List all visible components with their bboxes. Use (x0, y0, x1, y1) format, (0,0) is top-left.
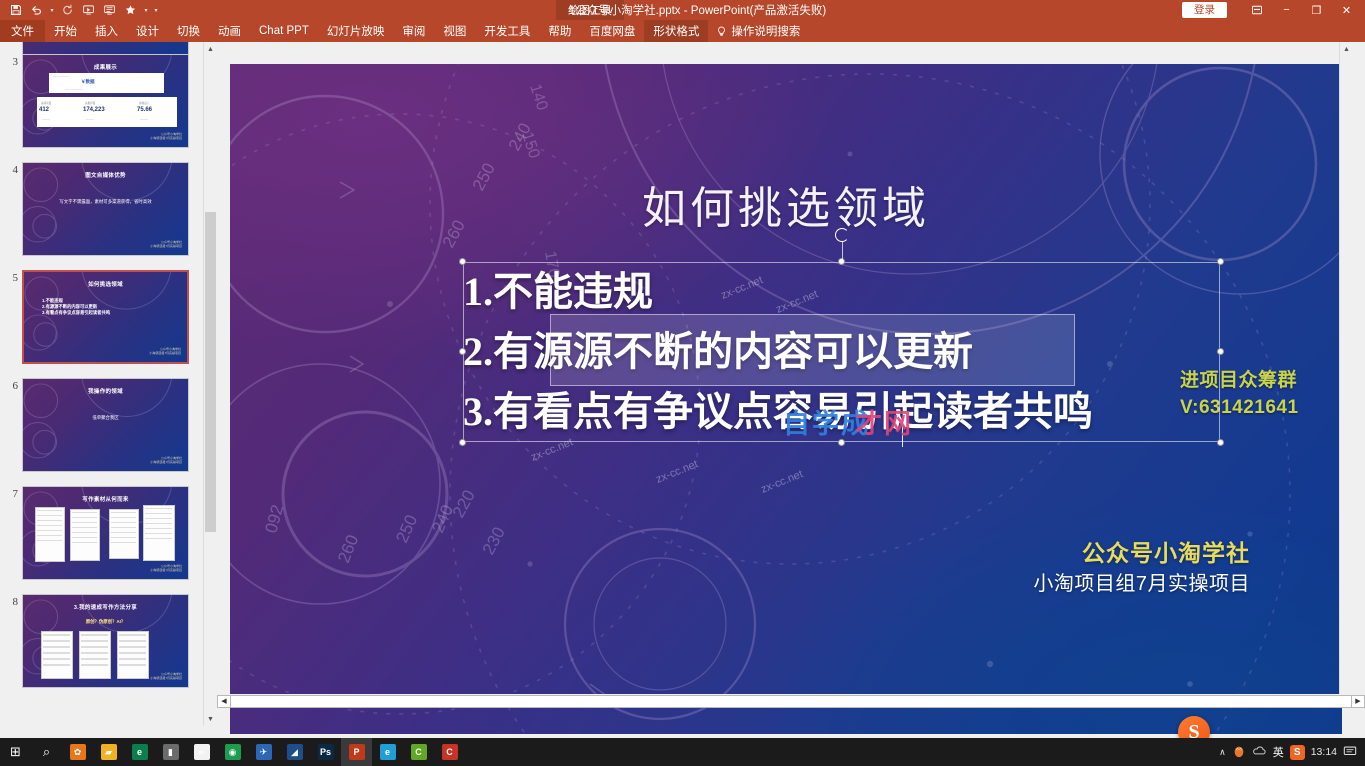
thumbnail-preview[interactable]: 写作素材从何而来公众号小淘学社小淘项目组7月实操项目 (22, 486, 189, 580)
thumbnail-image-line (72, 527, 97, 528)
thumbnail-number: 8 (0, 594, 22, 688)
thumbnail-footer: 公众号小淘学社小淘项目组7月实操项目 (149, 347, 181, 355)
app-icon-blue[interactable]: ◢ (279, 738, 310, 766)
hscroll-track[interactable] (231, 695, 1351, 708)
thumbnail-stat-label: 总收益元 (139, 101, 149, 105)
list-item[interactable]: 7写作素材从何而来公众号小淘学社小淘项目组7月实操项目 (0, 486, 203, 580)
thumbnail-image-line (119, 634, 146, 636)
thumbnail-image-line (43, 658, 70, 660)
thumbnail-image-line (111, 517, 136, 518)
thumbnail-image-line (119, 664, 146, 666)
thumbnail-image-line (37, 540, 62, 541)
thumbnail-stat-value: 75.66 (137, 107, 152, 113)
canvas-vertical-scrollbar[interactable]: ▲ ▼ (1339, 42, 1352, 708)
thumbnail-image-line (72, 517, 97, 518)
resize-handle-w[interactable] (459, 348, 466, 355)
ribbon-tab-4[interactable]: 切换 (168, 20, 209, 42)
app-icon-white-glyph: ∞ (194, 744, 210, 760)
favorites-dropdown-icon[interactable]: ▾ (142, 7, 150, 14)
thumbnail-image-line (81, 652, 108, 654)
undo-icon[interactable] (27, 1, 46, 19)
redo-icon[interactable] (58, 1, 77, 19)
app-icon-teal[interactable]: e (372, 738, 403, 766)
svg-text:250: 250 (392, 512, 421, 546)
powerpoint-icon[interactable]: P (341, 738, 372, 766)
svg-text:150: 150 (518, 130, 542, 161)
thumbnail-image-line (145, 538, 172, 539)
thumbnail-stat-label: 总阅读量 (41, 101, 51, 105)
lightbulb-icon (716, 26, 727, 37)
thumbnail-preview[interactable]: 如何挑选领域1.不能违规2.有源源不断的内容可以更新3.有看点有争议点容易引起读… (22, 270, 189, 364)
thumbnail-image-line (37, 515, 62, 516)
thumbnail-footer: 公众号小淘学社小淘项目组7月实操项目 (150, 564, 182, 572)
cloud-icon[interactable] (1252, 745, 1267, 760)
ribbon-tab-13[interactable]: 形状格式 (644, 20, 708, 42)
resize-handle-nw[interactable] (459, 258, 466, 265)
resize-handle-e[interactable] (1217, 348, 1224, 355)
watermark-site-tag: zx-cc.net (654, 458, 699, 486)
thumbnail-image-line (37, 520, 62, 521)
thumbnail-image-line (81, 658, 108, 660)
ribbon-tab-8[interactable]: 审阅 (393, 20, 434, 42)
thumbnail-scrollbar[interactable]: ▲ ▼ (203, 42, 216, 726)
thumbnail-title: 如何挑选领域 (24, 280, 187, 288)
photoshop-icon[interactable]: Ps (310, 738, 341, 766)
app-icon-red-glyph: C (442, 744, 458, 760)
windows-taskbar: ⊞⌕✿▰e▮∞◉✈◢PsPeCC ∧ 英 S 13:14 (0, 738, 1365, 766)
thumbnail-title: 3.我的速成写作方法分享 (23, 603, 188, 611)
powerpoint-icon-glyph: P (349, 744, 365, 760)
selection-frame[interactable] (463, 262, 1220, 442)
thumbnail-stat-unit: ——— (140, 118, 148, 121)
thumbnail-image-line (119, 646, 146, 648)
thumbnail-stat-value: 174,223 (83, 107, 105, 113)
thumbnail-image-line (145, 513, 172, 514)
svg-text:220: 220 (449, 487, 479, 521)
notification-icon[interactable] (1343, 745, 1357, 760)
usb-device-icon-glyph: ▮ (163, 744, 179, 760)
ribbon-tab-3[interactable]: 设计 (127, 20, 168, 42)
thumbnail-title: 图文自媒体优势 (23, 171, 188, 179)
svg-text:092: 092 (262, 503, 288, 535)
thumbnail-subtitle: 写文字不需露面，素材可多渠道获得，省时高效 (23, 199, 188, 205)
thumbnail-body: 1.不能违规2.有源源不断的内容可以更新3.有看点有争议点容易引起读者共鸣 (42, 298, 110, 317)
scroll-up-icon[interactable]: ▲ (204, 42, 217, 56)
taskbar-app-orange[interactable]: ✿ (62, 738, 93, 766)
rotation-stem (842, 242, 843, 262)
app-icon-blue-glyph: ◢ (287, 744, 303, 760)
thumbnail-image-line (37, 530, 62, 531)
ribbon-tab-1[interactable]: 开始 (45, 20, 86, 42)
current-slide[interactable]: 240 250 260 220 230 092 260 250 240 150 … (230, 64, 1342, 734)
ime-language-indicator[interactable]: 英 (1273, 744, 1284, 760)
svg-text:140: 140 (526, 82, 550, 113)
ribbon-tab-7[interactable]: 幻灯片放映 (318, 20, 394, 42)
window-title: 1公众号小淘学社.pptx - PowerPoint(产品激活失败) (0, 0, 1365, 20)
resize-handle-s[interactable] (838, 439, 845, 446)
thumbnail-number: 5 (0, 270, 22, 364)
search-icon[interactable]: ⌕ (31, 738, 62, 766)
thumbnail-image-line (119, 640, 146, 642)
svg-text:260: 260 (334, 532, 362, 565)
horizontal-scrollbar[interactable]: ◀ ▶ (217, 694, 1365, 708)
app-icon-white[interactable]: ∞ (186, 738, 217, 766)
thumbnail-stat-unit: ——— (42, 118, 50, 121)
thumbnail-number: 6 (0, 378, 22, 472)
ribbon-tab-6[interactable]: Chat PPT (250, 20, 318, 42)
rotate-handle[interactable] (835, 228, 849, 242)
list-item[interactable]: 83.我的速成写作方法分享原创？伪原创？AI？公众号小淘学社小淘项目组7月实操项… (0, 594, 203, 688)
thumbnail-stat-label: 总推荐量 (85, 101, 95, 105)
file-explorer-icon[interactable]: ▰ (93, 738, 124, 766)
maximize-button[interactable]: ❐ (1302, 0, 1331, 20)
thumbnail-subtitle: 原创？伪原创？AI？ (23, 619, 188, 625)
canvas-scroll-up-icon[interactable]: ▲ (1340, 42, 1353, 56)
thumbnail-image-line (43, 634, 70, 636)
thumbnail-preview[interactable]: 3.我的速成写作方法分享原创？伪原创？AI？公众号小淘学社小淘项目组7月实操项目 (22, 594, 189, 688)
thumbnail-image-line (111, 542, 136, 543)
thumbnail-image-line (119, 658, 146, 660)
thumbnail-image-line (111, 532, 136, 533)
thumbnail-footer: 公众号小淘学社小淘项目组7月实操项目 (150, 672, 182, 680)
thumbnail-card-label: —————— (53, 75, 69, 78)
thumbnail-image-line (81, 646, 108, 648)
thumbnail-image-line (111, 522, 136, 523)
thumbnail-footer: 公众号小淘学社小淘项目组7月实操项目 (150, 132, 182, 140)
ribbon-tab-11[interactable]: 帮助 (539, 20, 580, 42)
app-icon-red[interactable]: C (434, 738, 465, 766)
sogou-tray-icon[interactable]: S (1290, 745, 1305, 760)
customize-quick-access-icon[interactable]: ▾ (152, 7, 160, 14)
slide-title[interactable]: 如何挑选领域 (230, 172, 1342, 236)
list-item[interactable]: 6我操作的领域低单聚合我区公众号小淘学社小淘项目组7月实操项目 (0, 378, 203, 472)
thumbnail-card (37, 97, 177, 127)
thumbnail-image-line (43, 640, 70, 642)
thumbnail-image-line (72, 512, 97, 513)
start-button-glyph: ⊞ (10, 744, 21, 760)
thumbnail-image-line (81, 634, 108, 636)
ribbon-tab-12[interactable]: 百度网盘 (580, 20, 644, 42)
thumbnail-image-line (43, 646, 70, 648)
ribbon-tab-9[interactable]: 视图 (434, 20, 475, 42)
thumbnail-image-line (72, 542, 97, 543)
chrome-browser-icon-glyph: ◉ (225, 744, 241, 760)
thumbnail-image-line (145, 528, 172, 529)
photoshop-icon-glyph: Ps (318, 744, 334, 760)
workspace: 3成果展示——————￥数据—— —— ——总阅读量412———总推荐量174,… (0, 42, 1365, 726)
start-button[interactable]: ⊞ (0, 738, 31, 766)
resize-handle-ne[interactable] (1217, 258, 1224, 265)
show-hidden-icons-button[interactable]: ∧ (1219, 747, 1226, 758)
sign-in-button[interactable]: 登录 (1182, 2, 1227, 18)
undo-dropdown-icon[interactable]: ▾ (48, 7, 56, 14)
tell-me-label: 操作说明搜索 (731, 23, 800, 39)
edge-browser-icon-glyph: e (132, 744, 148, 760)
thumbnail-image-line (81, 664, 108, 666)
list-item[interactable]: 5如何挑选领域1.不能违规2.有源源不断的内容可以更新3.有看点有争议点容易引起… (0, 270, 203, 364)
foxmail-icon-glyph: ✈ (256, 744, 272, 760)
thumbnail-image-line (72, 532, 97, 533)
favorites-icon[interactable] (121, 1, 140, 19)
hscroll-right-icon[interactable]: ▶ (1351, 695, 1365, 708)
thumbnail-title: 我操作的领域 (23, 387, 188, 395)
app-icon-green-glyph: C (411, 744, 427, 760)
thumbnail-footer: 公众号小淘学社小淘项目组7月实操项目 (150, 240, 182, 248)
scrollbar-thumb[interactable] (205, 212, 216, 532)
quick-access-toolbar: ▾ ▾ ▾ (0, 1, 160, 19)
taskbar-clock[interactable]: 13:14 (1311, 746, 1337, 758)
scroll-down-icon[interactable]: ▼ (204, 712, 217, 726)
ribbon-display-options-icon[interactable] (1242, 0, 1271, 20)
thumbnail-number: 3 (0, 54, 22, 148)
slide-thumbnail-pane[interactable]: 3成果展示——————￥数据—— —— ——总阅读量412———总推荐量174,… (0, 42, 203, 726)
svg-text:230: 230 (479, 524, 509, 558)
thumbnail-image (79, 631, 111, 679)
search-icon-glyph: ⌕ (43, 744, 50, 760)
qq-penguin-icon[interactable] (1232, 744, 1246, 761)
thumbnail-image (41, 631, 73, 679)
thumbnail-image-line (145, 508, 172, 509)
thumbnail-image-line (43, 664, 70, 666)
ribbon-tab-10[interactable]: 开发工具 (475, 20, 539, 42)
thumbnail-image-line (81, 640, 108, 642)
thumbnail-image-line (37, 525, 62, 526)
thumbnail-stat-unit: ——— (86, 118, 94, 121)
thumbnail-number: 4 (0, 162, 22, 256)
tell-me-search[interactable]: 操作说明搜索 (708, 23, 808, 39)
thumbnail-image-line (72, 537, 97, 538)
edge-browser-icon[interactable]: e (124, 738, 155, 766)
save-icon[interactable] (6, 1, 25, 19)
svg-text:240: 240 (505, 120, 535, 154)
ribbon-tab-2[interactable]: 插入 (86, 20, 127, 42)
thumbnail-image-line (111, 512, 136, 513)
ribbon-tab-bar: 文件开始插入设计切换动画Chat PPT幻灯片放映审阅视图开发工具帮助百度网盘形… (0, 20, 1365, 42)
usb-device-icon[interactable]: ▮ (155, 738, 186, 766)
title-bar: ▾ ▾ ▾ 绘图工具 1公众号小淘学社.pptx - PowerPoint(产品… (0, 0, 1365, 20)
thumbnail-image-line (145, 533, 172, 534)
thumbnail-image-line (37, 535, 62, 536)
thumbnail-preview[interactable]: 图文自媒体优势写文字不需露面，素材可多渠道获得，省时高效公众号小淘学社小淘项目组… (22, 162, 189, 256)
thumbnail-image-line (145, 518, 172, 519)
close-button[interactable]: ✕ (1332, 0, 1361, 20)
thumbnail-subtitle: 低单聚合我区 (23, 415, 188, 421)
svg-text:240: 240 (428, 502, 457, 536)
slide-footer-brand[interactable]: 公众号小淘学社 (1082, 534, 1250, 568)
resize-handle-se[interactable] (1217, 439, 1224, 446)
thumbnail-title: 成果展示 (23, 63, 188, 71)
thumbnail-footer: 公众号小淘学社小淘项目组7月实操项目 (150, 456, 182, 464)
slide-canvas[interactable]: 240 250 260 220 230 092 260 250 240 150 … (217, 42, 1352, 726)
thumbnail-image-line (72, 522, 97, 523)
thumbnail-card-sub: —— —— —— (65, 88, 82, 91)
app-icon-green[interactable]: C (403, 738, 434, 766)
file-explorer-icon-glyph: ▰ (101, 744, 117, 760)
window-controls: 登录 − ❐ ✕ (1182, 0, 1361, 20)
ribbon-tab-5[interactable]: 动画 (209, 20, 250, 42)
slide-footer-subtitle[interactable]: 小淘项目组7月实操项目 (1033, 567, 1250, 596)
thumbnail-image-line (37, 510, 62, 511)
minimize-button[interactable]: − (1272, 0, 1301, 20)
start-from-current-slide-icon[interactable] (100, 1, 119, 19)
thumbnail-stat-value: 412 (39, 107, 49, 113)
thumbnail-title: 写作素材从何而来 (23, 495, 188, 503)
list-item[interactable]: 3成果展示——————￥数据—— —— ——总阅读量412———总推荐量174,… (0, 54, 203, 148)
system-tray: ∧ 英 S 13:14 (1219, 738, 1365, 766)
thumbnail-image-line (43, 652, 70, 654)
app-icon-teal-glyph: e (380, 744, 396, 760)
thumbnail-number: 7 (0, 486, 22, 580)
thumbnail-image-line (111, 537, 136, 538)
chrome-browser-icon[interactable]: ◉ (217, 738, 248, 766)
ribbon-tab-0[interactable]: 文件 (0, 20, 45, 42)
thumbnail-preview[interactable]: 我操作的领域低单聚合我区公众号小淘学社小淘项目组7月实操项目 (22, 378, 189, 472)
watermark-site-tag: zx-cc.net (759, 468, 804, 496)
foxmail-icon[interactable]: ✈ (248, 738, 279, 766)
thumbnail-image-line (111, 527, 136, 528)
thumbnail-image-line (119, 652, 146, 654)
context-tab-label: 绘图工具 (556, 0, 624, 20)
list-item[interactable]: 4图文自媒体优势写文字不需露面，素材可多渠道获得，省时高效公众号小淘学社小淘项目… (0, 162, 203, 256)
thumbnail-image (117, 631, 149, 679)
hscroll-left-icon[interactable]: ◀ (217, 695, 231, 708)
start-from-beginning-icon[interactable] (79, 1, 98, 19)
thumbnail-preview[interactable]: 成果展示——————￥数据—— —— ——总阅读量412———总推荐量174,2… (22, 54, 189, 148)
thumbnail-card-value: ￥数据 (81, 79, 95, 85)
resize-handle-sw[interactable] (459, 439, 466, 446)
taskbar-app-orange-glyph: ✿ (70, 744, 86, 760)
thumbnail-image-line (145, 523, 172, 524)
